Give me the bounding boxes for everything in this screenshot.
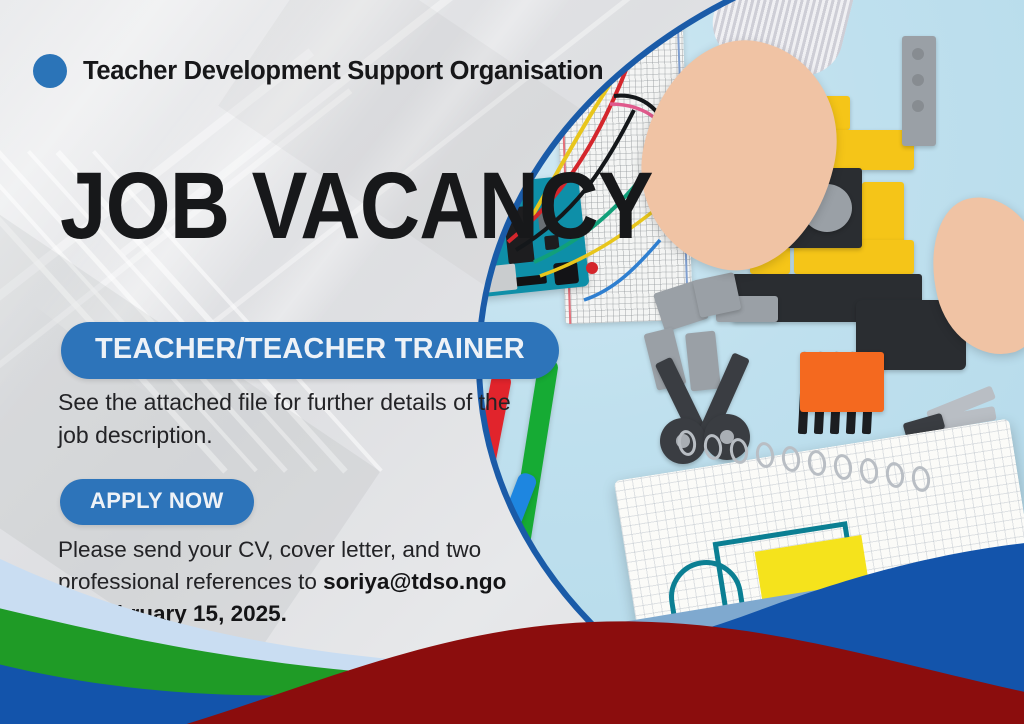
organisation-row: Teacher Development Support Organisation: [33, 54, 603, 88]
brand-dot-icon: [33, 54, 67, 88]
job-vacancy-poster: Teacher Development Support Organisation…: [0, 0, 1024, 724]
contact-email[interactable]: soriya@tdso.ngo: [323, 569, 506, 594]
role-badge: TEACHER/TEACHER TRAINER: [61, 322, 559, 379]
poster-content: Teacher Development Support Organisation…: [0, 0, 600, 724]
application-deadline: by February 15, 2025.: [58, 601, 287, 626]
apply-now-button[interactable]: APPLY NOW: [60, 479, 254, 525]
page-title: JOB VACANCY: [60, 163, 653, 250]
orange-block: [800, 352, 884, 412]
contact-instructions: Please send your CV, cover letter, and t…: [58, 534, 536, 631]
job-description: See the attached file for further detail…: [58, 386, 528, 451]
organisation-name: Teacher Development Support Organisation: [83, 57, 603, 86]
